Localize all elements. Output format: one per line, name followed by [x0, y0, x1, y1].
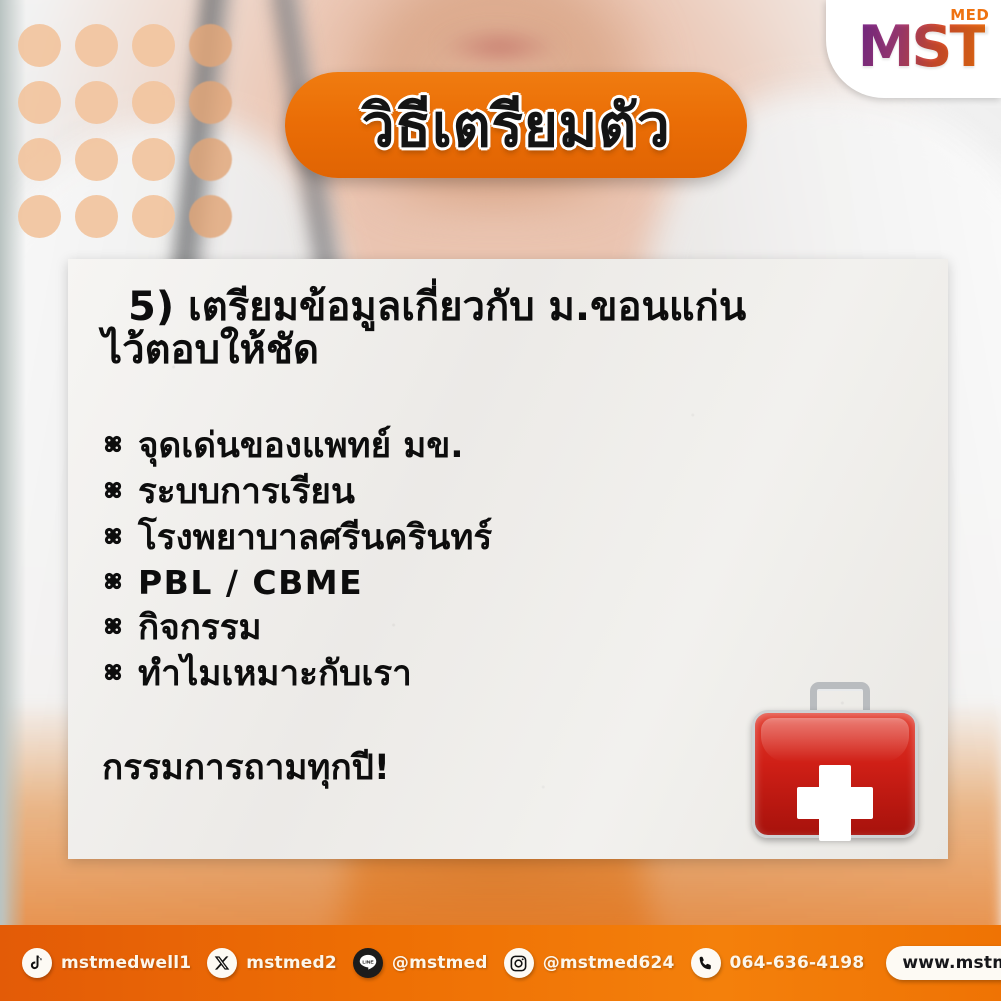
logo-wordmark: MST	[858, 19, 986, 76]
instagram-icon[interactable]	[504, 948, 534, 978]
social-x[interactable]: mstmed2	[207, 948, 337, 978]
social-x-label: mstmed2	[246, 953, 337, 973]
phone-icon[interactable]	[691, 948, 721, 978]
list-item-label: โรงพยาบาลศรีนครินทร์	[138, 519, 492, 558]
list-item-label: จุดเด่นของแพทย์ มข.	[138, 427, 464, 466]
clover-bullet-icon	[102, 525, 124, 547]
logo-superscript: MED	[950, 6, 989, 24]
social-footer-bar: mstmedwell1 mstmed2 LINE @mstmed	[0, 925, 1001, 1001]
contact-phone-label: 064-636-4198	[730, 953, 865, 973]
social-line-label: @mstmed	[392, 953, 488, 973]
tiktok-icon[interactable]	[22, 948, 52, 978]
social-instagram-label: @mstmed624	[543, 953, 675, 973]
social-tiktok[interactable]: mstmedwell1	[22, 948, 191, 978]
social-line[interactable]: LINE @mstmed	[353, 948, 488, 978]
list-item-label: ทำไมเหมาะกับเรา	[138, 655, 412, 694]
clover-bullet-icon	[102, 661, 124, 683]
bullet-list: จุดเด่นของแพทย์ มข. ระบบการเรียน	[102, 427, 914, 695]
brand-logo-badge: MST MED	[826, 0, 1001, 98]
line-icon[interactable]: LINE	[353, 948, 383, 978]
list-item: PBL / CBME	[102, 565, 914, 602]
website-label: www.mstmed624.com	[902, 953, 1001, 973]
list-item-label: กิจกรรม	[138, 609, 262, 648]
first-aid-kit-icon	[752, 682, 912, 832]
list-item-label: PBL / CBME	[138, 565, 363, 602]
list-item: ระบบการเรียน	[102, 473, 914, 512]
list-item: กิจกรรม	[102, 609, 914, 648]
title-pill: วิธีเตรียมตัว	[285, 72, 747, 178]
contact-phone[interactable]: 064-636-4198	[691, 948, 865, 978]
list-item: โรงพยาบาลศรีนครินทร์	[102, 519, 914, 558]
social-tiktok-label: mstmedwell1	[61, 953, 191, 973]
x-twitter-icon[interactable]	[207, 948, 237, 978]
clover-bullet-icon	[102, 433, 124, 455]
card-heading-line-2: ไว้ตอบให้ชัด	[102, 330, 914, 371]
website-pill[interactable]: www.mstmed624.com	[886, 946, 1001, 980]
clover-bullet-icon	[102, 570, 124, 592]
poster-canvas: MST MED วิธีเตรียมตัว 5) เตรียมข้อมูลเกี…	[0, 0, 1001, 1001]
clover-bullet-icon	[102, 615, 124, 637]
card-heading-line-1: 5) เตรียมข้อมูลเกี่ยวกับ ม.ขอนแก่น	[128, 287, 914, 328]
social-instagram[interactable]: @mstmed624	[504, 948, 675, 978]
list-item-label: ระบบการเรียน	[138, 473, 355, 512]
svg-text:LINE: LINE	[362, 959, 374, 965]
clover-bullet-icon	[102, 479, 124, 501]
list-item: จุดเด่นของแพทย์ มข.	[102, 427, 914, 466]
decorative-dot-grid	[18, 24, 246, 252]
page-title: วิธีเตรียมตัว	[362, 96, 671, 155]
